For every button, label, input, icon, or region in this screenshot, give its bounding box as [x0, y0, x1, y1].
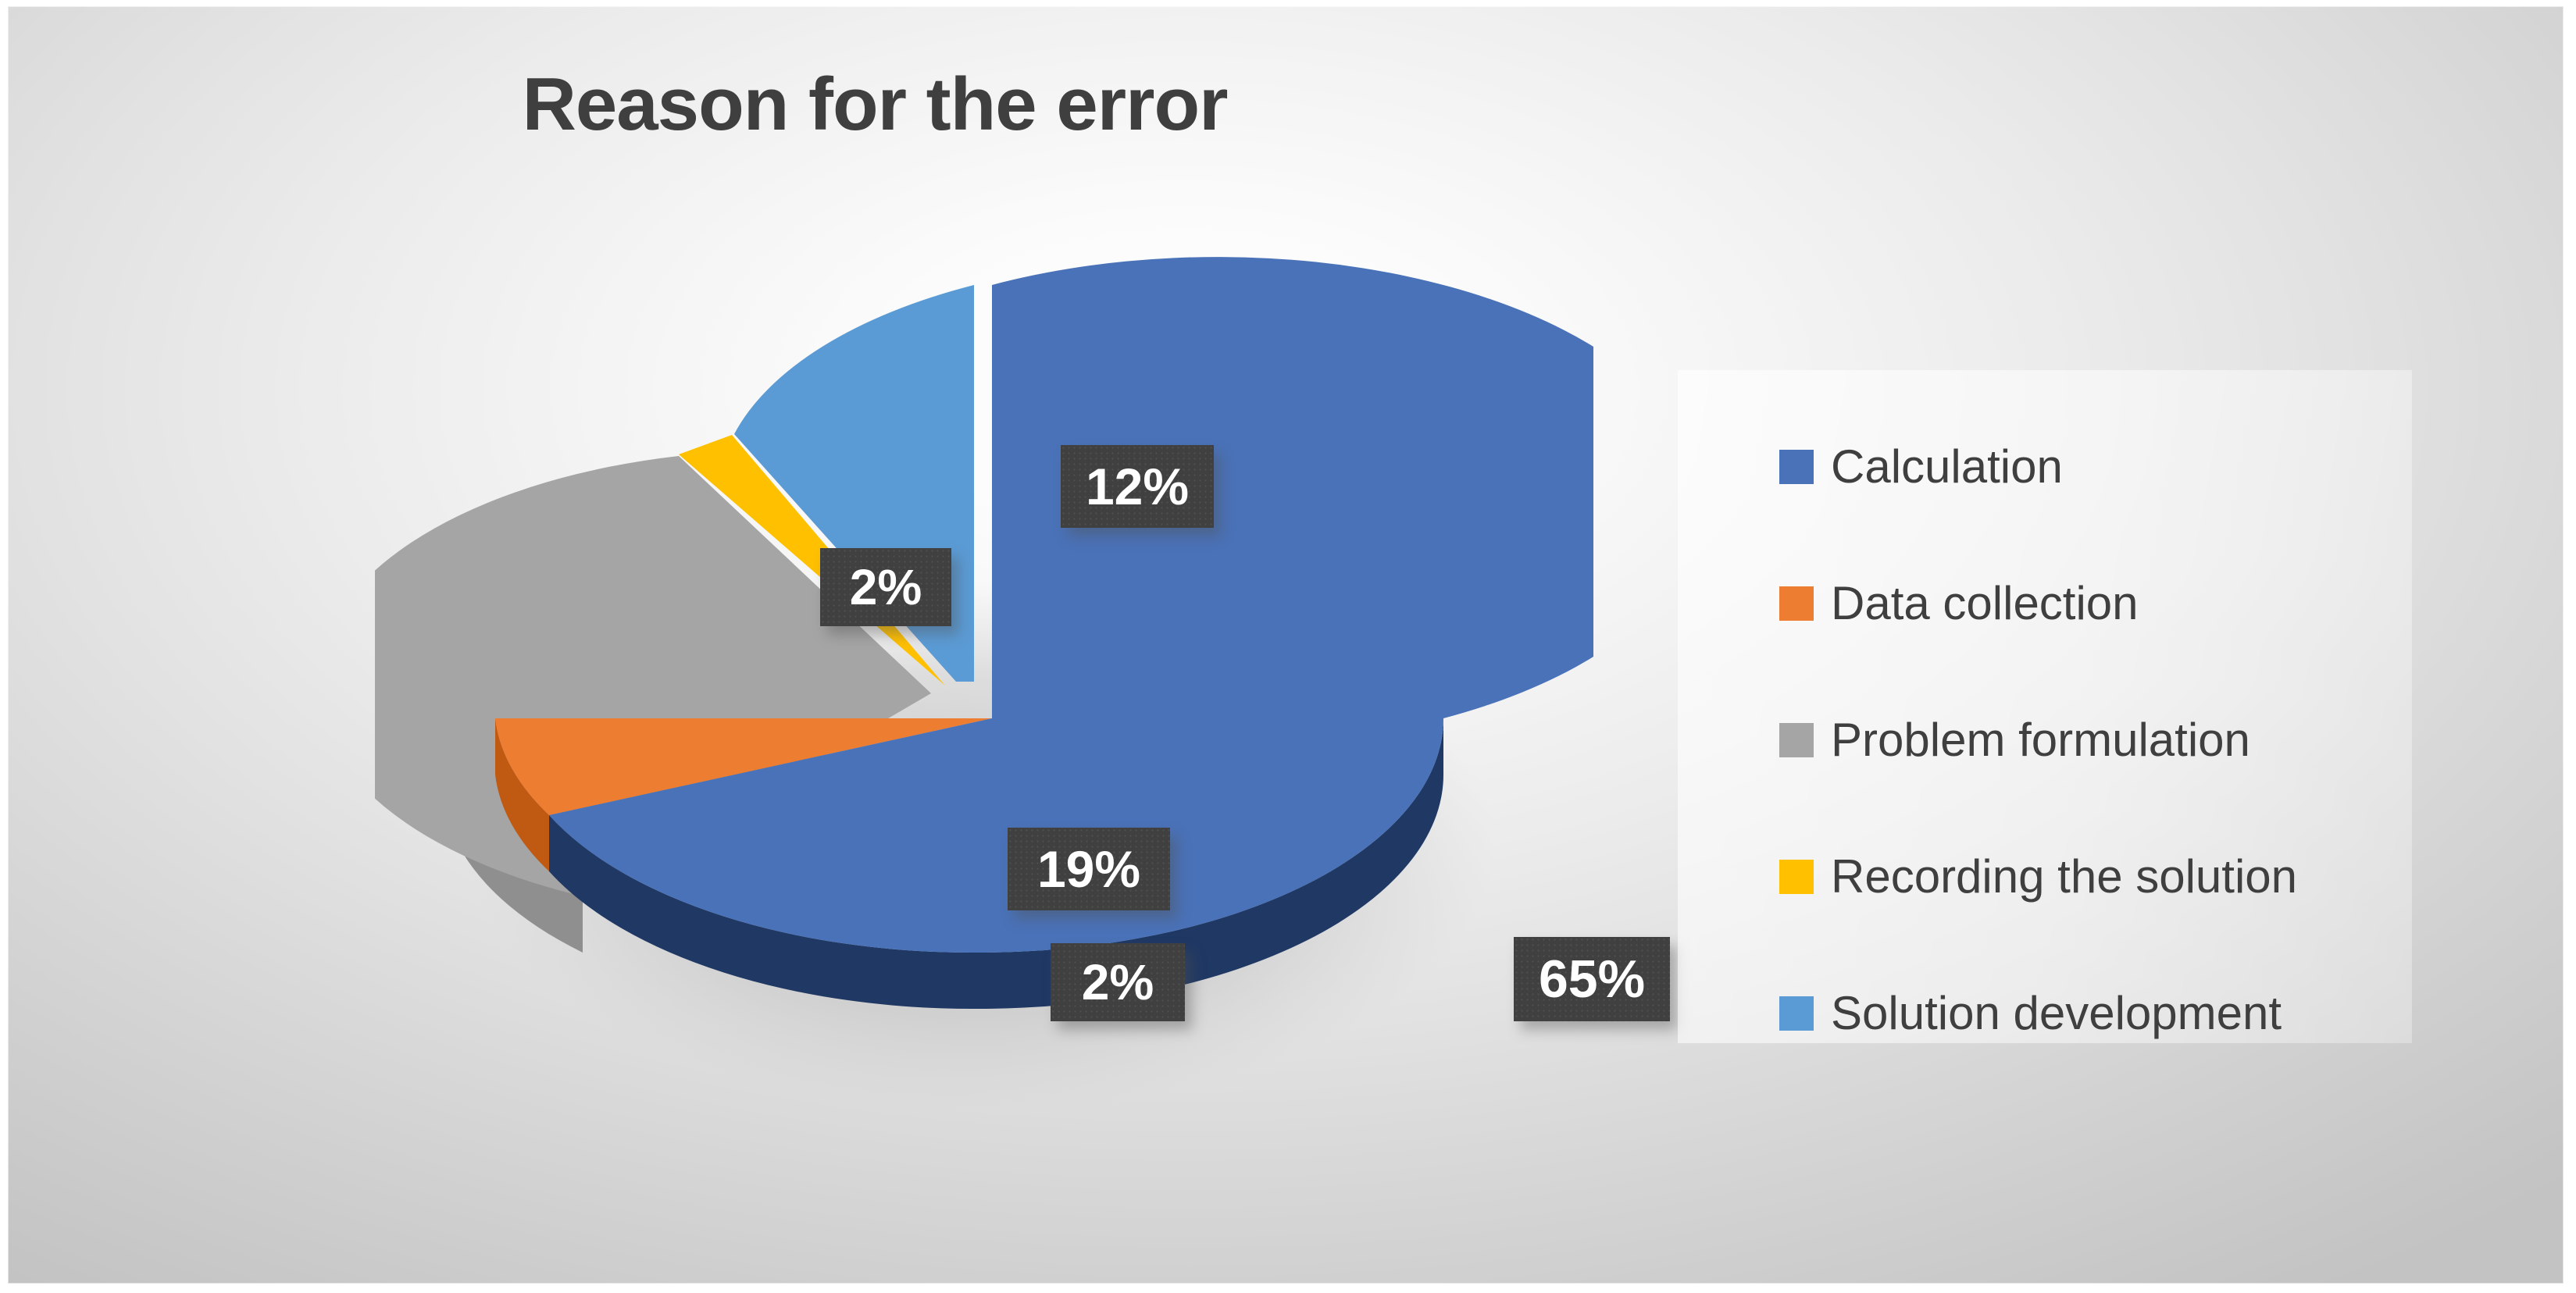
legend-item-solution-development[interactable]: Solution development	[1779, 945, 2420, 1081]
data-label-solution-development: 12%	[1061, 445, 1214, 528]
legend-label-recording-the-solution: Recording the solution	[1831, 853, 2297, 900]
legend-label-solution-development: Solution development	[1831, 990, 2282, 1037]
data-label-recording-the-solution: 2%	[820, 548, 951, 626]
legend-swatch-problem-formulation	[1779, 723, 1814, 757]
data-label-problem-formulation: 19%	[1008, 828, 1170, 910]
legend-item-data-collection[interactable]: Data collection	[1779, 535, 2420, 671]
chart-legend[interactable]: Calculation Data collection Problem form…	[1779, 398, 2420, 1081]
legend-item-problem-formulation[interactable]: Problem formulation	[1779, 671, 2420, 808]
data-label-calculation: 65%	[1514, 937, 1670, 1021]
chart-plot-area[interactable]: Reason for the error	[8, 6, 2564, 1284]
pie-graphic	[375, 240, 1593, 1162]
legend-swatch-recording-the-solution	[1779, 860, 1814, 894]
legend-label-problem-formulation: Problem formulation	[1831, 717, 2250, 764]
chart-title: Reason for the error	[8, 67, 1742, 142]
pie-chart[interactable]: 12% 2% 19% 2% 65%	[375, 240, 1593, 1162]
chart-frame: Reason for the error	[0, 0, 2576, 1293]
legend-label-data-collection: Data collection	[1831, 580, 2139, 627]
legend-item-calculation[interactable]: Calculation	[1779, 398, 2420, 535]
legend-swatch-solution-development	[1779, 996, 1814, 1031]
data-label-data-collection: 2%	[1051, 943, 1185, 1021]
legend-swatch-data-collection	[1779, 586, 1814, 621]
legend-label-calculation: Calculation	[1831, 443, 2063, 490]
legend-swatch-calculation	[1779, 450, 1814, 484]
legend-item-recording-the-solution[interactable]: Recording the solution	[1779, 808, 2420, 945]
